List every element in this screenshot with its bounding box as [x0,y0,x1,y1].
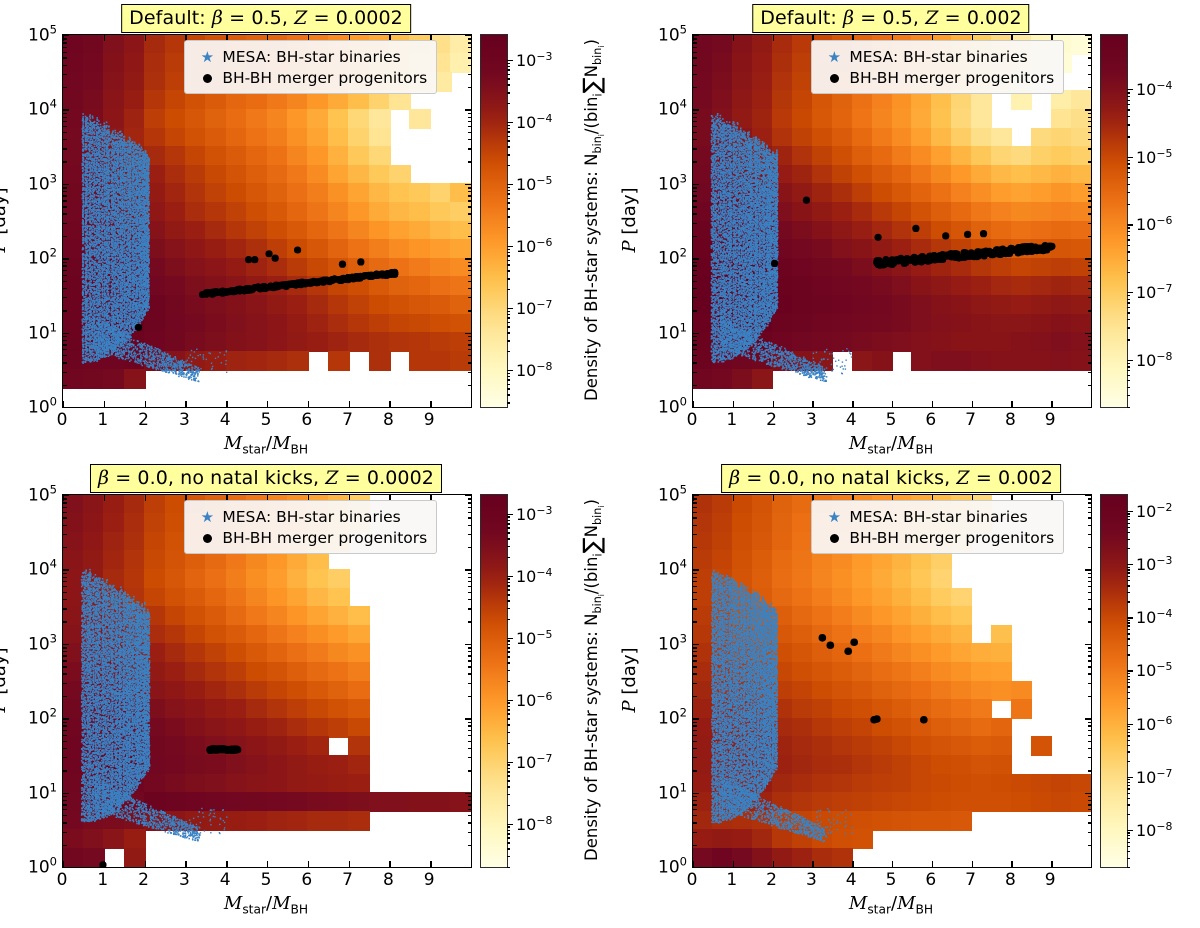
y-minor-tick-right [468,832,472,833]
y-tick-right-1e0 [465,867,471,868]
colorbar-minor-tick [507,848,510,849]
colorbar-minor-tick [1127,782,1130,783]
y-minor-tick [63,236,67,237]
x-tick-label-3: 3 [806,410,817,430]
colorbar-minor-tick [1127,302,1130,303]
y-tick-1e1 [693,793,699,794]
colorbar-minor-tick [1127,592,1130,593]
y-tick-right-1e1 [465,793,471,794]
y-minor-tick-right [1088,735,1092,736]
y-minor-tick [693,507,697,508]
y-minor-tick-right [468,660,472,661]
x-tick-7 [349,401,350,407]
x-tick-top-2 [773,35,774,41]
x-tick-3 [812,861,813,867]
y-minor-tick-right [1088,47,1092,48]
y-tick-1e5 [693,495,699,496]
colorbar-minor-tick [507,764,510,765]
colorbar-top-right[interactable]: 10−410−510−610−710−8 [1100,34,1128,408]
colorbar-minor-tick [507,794,510,795]
y-tick-right-1e1 [465,333,471,334]
y-minor-tick-right [1088,666,1092,667]
circle-marker-icon [819,68,849,88]
colorbar-minor-tick [507,837,510,838]
y-tick-label-1e5: 105 [658,23,687,46]
y-tick-right-1e0 [1085,407,1091,408]
colorbar-minor-tick [1127,177,1130,178]
y-tick-1e1 [693,333,699,334]
colorbar-minor-tick [1127,814,1130,815]
y-minor-tick [63,592,67,593]
colorbar-minor-tick [1127,516,1130,517]
colorbar-minor-tick [507,351,510,352]
legend-top-right: ★MESA: BH-star binariesBH-BH merger prog… [811,40,1064,94]
y-minor-tick-right [1088,349,1092,350]
colorbar-minor-tick [1127,729,1130,730]
x-tick-label-0: 0 [57,870,68,890]
y-minor-tick-right [468,696,472,697]
colorbar-tick-label: 10−3 [516,503,552,523]
y-minor-tick [693,748,697,749]
y-minor-tick [693,65,697,66]
colorbar-minor-tick [1127,740,1130,741]
y-tick-1e4 [693,109,699,110]
y-minor-tick-right [1088,65,1092,66]
y-minor-tick [63,502,67,503]
colorbar-minor-tick [507,805,510,806]
colorbar-minor-tick [507,702,510,703]
y-tick-right-1e1 [1085,793,1091,794]
x-tick-label-1: 1 [726,870,737,890]
colorbar-minor-tick [1127,100,1130,101]
y-minor-tick [693,113,697,114]
colorbar-tick [507,184,513,185]
colorbar-minor-tick [1127,572,1130,573]
x-tick-label-5: 5 [261,870,272,890]
y-minor-tick-right [1088,200,1092,201]
y-minor-tick-right [468,651,472,652]
colorbar-minor-tick [507,833,510,834]
x-tick-label-6: 6 [925,410,936,430]
y-minor-tick-right [1088,581,1092,582]
y-minor-tick-right [468,336,472,337]
y-minor-tick-right [1088,730,1092,731]
y-minor-tick-right [468,52,472,53]
y-minor-tick-right [468,586,472,587]
x-tick-label-2: 2 [138,410,149,430]
colorbar-minor-tick [507,724,510,725]
colorbar-minor-tick [507,340,510,341]
colorbar-tick-label: 10−2 [1136,501,1172,521]
colorbar-minor-tick [507,278,510,279]
y-minor-tick [63,262,67,263]
colorbar-minor-tick [507,270,510,271]
y-minor-tick [693,132,697,133]
x-tick-2 [145,401,146,407]
y-minor-tick [693,236,697,237]
colorbar-minor-tick [1127,779,1130,780]
y-minor-tick [693,191,697,192]
x-tick-label-8: 8 [383,870,394,890]
y-minor-tick-right [468,621,472,622]
x-tick-top-1 [104,495,105,501]
y-minor-tick [63,281,67,282]
legend-item-0: ★MESA: BH-star binaries [192,46,427,67]
y-minor-tick [63,275,67,276]
colorbar-minor-tick [1127,532,1130,533]
y-minor-tick-right [468,349,472,350]
colorbar-tick-label: 10−5 [516,627,552,647]
y-tick-label-1e0: 100 [28,855,57,878]
colorbar-top-left[interactable]: 10−310−410−510−610−710−8 [480,34,508,408]
y-minor-tick-right [468,573,472,574]
y-minor-tick-right [1088,126,1092,127]
x-tick-4 [852,861,853,867]
y-minor-tick [693,213,697,214]
colorbar-minor-tick [507,546,510,547]
y-tick-right-1e2 [465,258,471,259]
y-minor-tick-right [1088,281,1092,282]
colorbar-minor-tick [507,670,510,671]
y-minor-tick-right [1088,148,1092,149]
y-minor-tick-right [1088,297,1092,298]
colorbar-minor-tick [507,289,510,290]
y-minor-tick [63,725,67,726]
colorbar-minor-tick [1127,307,1130,308]
y-minor-tick [693,809,697,810]
y-minor-tick-right [1088,498,1092,499]
y-minor-tick [693,355,697,356]
colorbar-tick-label: 10−8 [516,360,552,380]
x-tick-label-2: 2 [138,870,149,890]
y-minor-tick-right [468,288,472,289]
y-minor-tick-right [1088,822,1092,823]
y-minor-tick [63,336,67,337]
y-minor-tick [63,385,67,386]
colorbar-minor-tick [507,92,510,93]
colorbar-minor-tick [507,332,510,333]
y-tick-1e5 [693,35,699,36]
x-tick-label-0: 0 [57,410,68,430]
y-minor-tick-right [1088,770,1092,771]
x-tick-label-4: 4 [220,870,231,890]
colorbar-minor-tick [1127,686,1130,687]
x-axis-label-bottom-right: Mstar/MBH [849,893,933,917]
colorbar-tick-label: 10−4 [1136,607,1172,627]
y-minor-tick-right [1088,132,1092,133]
y-tick-1e3 [693,644,699,645]
x-tick-top-1 [733,495,734,501]
colorbar-minor-tick [1127,204,1130,205]
y-minor-tick [693,161,697,162]
y-minor-tick-right [1088,213,1092,214]
x-tick-8 [389,861,390,867]
y-tick-right-1e1 [1085,333,1091,334]
colorbar-minor-tick [1127,735,1130,736]
colorbar-minor-tick [507,255,510,256]
x-tick-top-1 [733,35,734,41]
y-minor-tick [63,647,67,648]
colorbar-minor-tick [507,582,510,583]
colorbar-tick-label: 10−5 [1136,660,1172,680]
colorbar-minor-tick [1127,798,1130,799]
colorbar-tick-label: 10−8 [1136,820,1172,840]
y-minor-tick [693,187,697,188]
colorbar-minor-tick [1127,163,1130,164]
x-tick-label-3: 3 [806,870,817,890]
y-minor-tick [693,722,697,723]
y-tick-label-1e1: 101 [28,780,57,803]
y-minor-tick [693,270,697,271]
y-minor-tick [693,804,697,805]
colorbar-minor-tick [1127,299,1130,300]
colorbar-minor-tick [1127,846,1130,847]
colorbar-tick-label: 10−5 [1136,147,1172,167]
x-tick-label-9: 9 [1045,410,1056,430]
y-minor-tick [63,310,67,311]
colorbar-minor-tick [1127,519,1130,520]
y-minor-tick-right [468,673,472,674]
x-tick-8 [1011,861,1012,867]
y-minor-tick-right [1088,288,1092,289]
y-tick-label-1e2: 102 [658,706,687,729]
y-minor-tick-right [468,206,472,207]
y-tick-1e4 [693,569,699,570]
legend-bottom-right: ★MESA: BH-star binariesBH-BH merger prog… [811,500,1064,554]
y-minor-tick [693,517,697,518]
y-tick-label-1e0: 100 [28,395,57,418]
colorbar-minor-tick [1127,513,1130,514]
y-axis-label-top-left: P [day] [0,188,10,253]
y-minor-tick [693,223,697,224]
colorbar-minor-tick [1127,245,1130,246]
x-tick-label-9: 9 [1045,870,1056,890]
colorbar-bottom-left[interactable]: 10−310−410−510−610−710−8 [480,494,508,868]
colorbar-minor-tick [1127,842,1130,843]
legend-item-0: ★MESA: BH-star binaries [819,506,1054,527]
legend-top-left: ★MESA: BH-star binariesBH-BH merger prog… [184,40,437,94]
colorbar-tick [507,370,513,371]
y-minor-tick [63,581,67,582]
colorbar-minor-tick [1127,679,1130,680]
colorbar-minor-tick [1127,633,1130,634]
y-minor-tick [63,845,67,846]
y-tick-1e2 [693,258,699,259]
colorbar-minor-tick [507,140,510,141]
colorbar-minor-tick [507,523,510,524]
y-minor-tick [63,87,67,88]
legend-label: MESA: BH-star binaries [849,47,1027,67]
y-minor-tick [63,796,67,797]
colorbar-minor-tick [507,252,510,253]
y-minor-tick [693,206,697,207]
colorbar-minor-tick [507,136,510,137]
legend-item-1: BH-BH merger progenitors [192,67,427,88]
y-minor-tick [63,770,67,771]
x-tick-label-5: 5 [261,410,272,430]
y-minor-tick [693,344,697,345]
colorbar-minor-tick [1127,407,1130,408]
colorbar-minor-tick [507,842,510,843]
y-minor-tick [63,683,67,684]
y-minor-tick-right [1088,573,1092,574]
y-tick-label-1e0: 100 [658,395,687,418]
y-minor-tick [693,647,697,648]
y-tick-right-1e5 [465,495,471,496]
colorbar-minor-tick [507,585,510,586]
y-minor-tick-right [468,223,472,224]
colorbar-minor-tick [507,198,510,199]
y-minor-tick-right [1088,796,1092,797]
y-minor-tick-right [468,498,472,499]
y-tick-1e0 [63,867,69,868]
colorbar-minor-tick [507,190,510,191]
y-minor-tick-right [468,372,472,373]
x-tick-6 [308,861,309,867]
colorbar-minor-tick [1127,601,1130,602]
colorbar-minor-tick [1127,682,1130,683]
y-minor-tick-right [1088,673,1092,674]
y-minor-tick-right [1088,741,1092,742]
colorbar-minor-tick [507,516,510,517]
x-tick-label-7: 7 [965,870,976,890]
colorbar-tick-label: 10−8 [1136,349,1172,369]
y-tick-right-1e4 [465,109,471,110]
y-tick-label-1e3: 103 [658,171,687,194]
colorbar-tick [507,824,513,825]
y-minor-tick-right [468,310,472,311]
y-minor-tick-right [1088,608,1092,609]
x-tick-label-3: 3 [179,870,190,890]
y-minor-tick [63,507,67,508]
colorbar-minor-tick [1127,851,1130,852]
y-minor-tick-right [1088,57,1092,58]
colorbar-minor-tick [1127,380,1130,381]
colorbar-minor-tick [507,532,510,533]
y-minor-tick [63,52,67,53]
y-tick-label-1e0: 100 [658,855,687,878]
y-tick-1e4 [63,569,69,570]
colorbar-minor-tick [507,202,510,203]
colorbar-minor-tick [1127,96,1130,97]
colorbar-minor-tick [1127,339,1130,340]
colorbar-bottom-right[interactable]: 10−210−310−410−510−610−710−8 [1100,494,1128,868]
y-minor-tick [693,547,697,548]
y-tick-1e5 [63,495,69,496]
y-minor-tick [693,47,697,48]
x-tick-1 [104,861,105,867]
colorbar-minor-tick [1127,231,1130,232]
x-tick-5 [267,401,268,407]
y-minor-tick-right [1088,815,1092,816]
y-minor-tick [693,349,697,350]
y-minor-tick [693,696,697,697]
y-minor-tick-right [1088,655,1092,656]
x-tick-8 [1011,401,1012,407]
x-axis-label-bottom-left: Mstar/MBH [224,893,308,917]
colorbar-tick [1127,89,1133,90]
x-tick-9 [1051,861,1052,867]
y-minor-tick [693,741,697,742]
x-tick-4 [852,401,853,407]
colorbar-minor-tick [507,589,510,590]
colorbar-minor-tick [507,74,510,75]
y-tick-1e1 [63,333,69,334]
y-minor-tick [693,265,697,266]
colorbar-minor-tick [507,732,510,733]
x-tick-5 [892,401,893,407]
y-minor-tick [63,651,67,652]
colorbar-minor-tick [507,786,510,787]
y-minor-tick-right [1088,362,1092,363]
colorbar-minor-tick [507,376,510,377]
y-minor-tick [693,87,697,88]
y-minor-tick-right [468,139,472,140]
colorbar-minor-tick [1127,527,1130,528]
y-minor-tick-right [1088,340,1092,341]
legend-item-1: BH-BH merger progenitors [819,527,1054,548]
colorbar-minor-tick [1127,319,1130,320]
y-tick-1e2 [693,718,699,719]
y-minor-tick-right [1088,832,1092,833]
x-tick-label-7: 7 [342,410,353,430]
colorbar-minor-tick [507,644,510,645]
y-tick-1e5 [63,35,69,36]
colorbar-minor-tick [1127,732,1130,733]
y-minor-tick [63,206,67,207]
y-tick-label-1e1: 101 [28,320,57,343]
colorbar-minor-tick [507,600,510,601]
colorbar-minor-tick [1127,124,1130,125]
y-minor-tick-right [468,191,472,192]
colorbar-minor-tick [507,640,510,641]
x-tick-label-1: 1 [97,410,108,430]
circle-marker-icon [192,68,222,88]
y-minor-tick-right [468,770,472,771]
y-tick-1e3 [63,184,69,185]
y-tick-right-1e5 [465,35,471,36]
x-tick-4 [226,861,227,867]
colorbar-minor-tick [507,63,510,64]
y-minor-tick-right [468,655,472,656]
y-tick-label-1e5: 105 [28,483,57,506]
y-tick-right-1e0 [465,407,471,408]
y-tick-label-1e1: 101 [658,320,687,343]
colorbar-tick-label: 10−7 [516,751,552,771]
star-marker-icon: ★ [819,47,849,67]
y-minor-tick-right [1088,507,1092,508]
y-minor-tick-right [468,725,472,726]
y-minor-tick [693,735,697,736]
y-minor-tick [693,800,697,801]
y-minor-tick-right [468,722,472,723]
y-minor-tick [63,599,67,600]
x-tick-label-6: 6 [301,870,312,890]
colorbar-minor-tick [507,780,510,781]
y-minor-tick [693,310,697,311]
y-minor-tick-right [1088,748,1092,749]
y-minor-tick-right [468,845,472,846]
y-minor-tick [693,288,697,289]
y-minor-tick [63,748,67,749]
y-minor-tick [63,161,67,162]
x-tick-4 [226,401,227,407]
y-minor-tick-right [468,262,472,263]
y-minor-tick [693,666,697,667]
colorbar-tick [1127,511,1133,512]
x-tick-top-2 [145,495,146,501]
colorbar-minor-tick [507,187,510,188]
